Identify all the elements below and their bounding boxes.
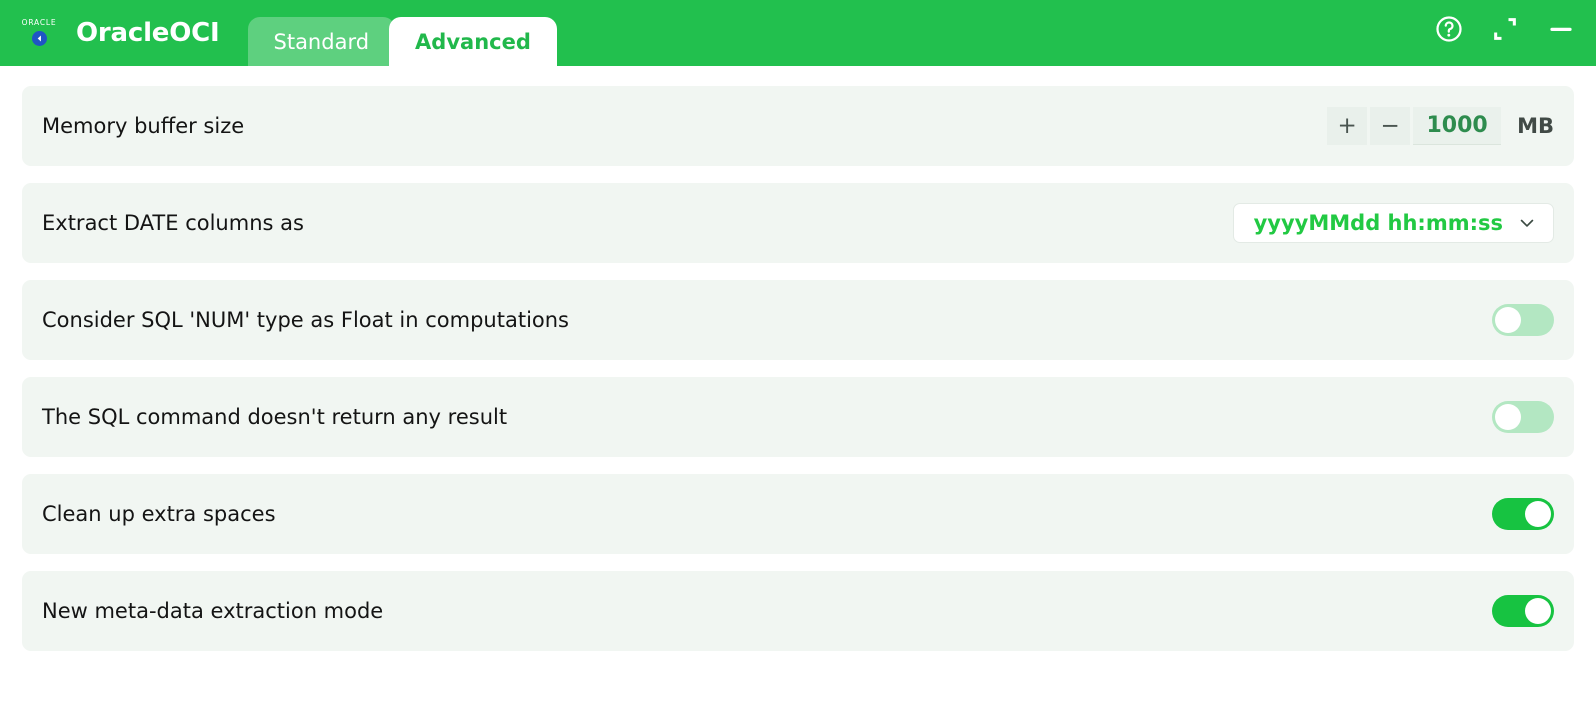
restore-icon	[1491, 15, 1519, 43]
oracle-arrow-badge-icon	[32, 31, 47, 46]
oracle-logo-icon: ORACLE	[16, 16, 62, 50]
tab-advanced-label: Advanced	[415, 30, 531, 54]
setting-row-consider-num-as-float: Consider SQL 'NUM' type as Float in comp…	[22, 280, 1574, 360]
tab-advanced[interactable]: Advanced	[389, 17, 557, 66]
toggle-knob	[1495, 404, 1521, 430]
app-title: OracleOCI	[76, 0, 220, 66]
toggle-knob	[1525, 598, 1551, 624]
toggle-clean-up-extra-spaces[interactable]	[1492, 498, 1554, 530]
setting-row-clean-up-extra-spaces: Clean up extra spaces	[22, 474, 1574, 554]
setting-control	[1492, 595, 1554, 627]
toggle-consider-num-as-float[interactable]	[1492, 304, 1554, 336]
settings-list: Memory buffer size + − 1000 MB Extract D…	[0, 66, 1596, 651]
toggle-new-metadata-extraction-mode[interactable]	[1492, 595, 1554, 627]
setting-row-new-metadata-extraction-mode: New meta-data extraction mode	[22, 571, 1574, 651]
memory-buffer-size-input[interactable]: 1000	[1413, 107, 1501, 145]
setting-control: yyyyMMdd hh:mm:ss	[1233, 203, 1554, 243]
help-icon	[1434, 14, 1464, 44]
title-bar: ORACLE OracleOCI Standard Advanced	[0, 0, 1596, 66]
setting-label: Clean up extra spaces	[42, 502, 1492, 526]
memory-buffer-size-unit: MB	[1517, 107, 1554, 145]
stepper-decrement-button[interactable]: −	[1370, 107, 1410, 145]
setting-row-memory-buffer-size: Memory buffer size + − 1000 MB	[22, 86, 1574, 166]
tab-bar: Standard Advanced	[248, 0, 557, 66]
setting-label: New meta-data extraction mode	[42, 599, 1492, 623]
setting-label: Memory buffer size	[42, 114, 1327, 138]
restore-button[interactable]	[1488, 12, 1522, 46]
minimize-icon	[1546, 14, 1576, 44]
toggle-knob	[1525, 501, 1551, 527]
setting-label: The SQL command doesn't return any resul…	[42, 405, 1492, 429]
setting-control	[1492, 498, 1554, 530]
setting-control	[1492, 304, 1554, 336]
tab-standard[interactable]: Standard	[248, 17, 396, 66]
window-controls	[1432, 0, 1578, 58]
tab-standard-label: Standard	[274, 30, 370, 54]
date-format-dropdown[interactable]: yyyyMMdd hh:mm:ss	[1233, 203, 1554, 243]
quantity-stepper: + − 1000	[1327, 107, 1501, 145]
toggle-sql-no-result[interactable]	[1492, 401, 1554, 433]
setting-row-sql-no-result: The SQL command doesn't return any resul…	[22, 377, 1574, 457]
chevron-down-icon	[1517, 213, 1537, 233]
help-button[interactable]	[1432, 12, 1466, 46]
setting-label: Consider SQL 'NUM' type as Float in comp…	[42, 308, 1492, 332]
brand-area: ORACLE OracleOCI	[0, 0, 220, 66]
minimize-button[interactable]	[1544, 12, 1578, 46]
setting-label: Extract DATE columns as	[42, 211, 1233, 235]
setting-control	[1492, 401, 1554, 433]
stepper-increment-button[interactable]: +	[1327, 107, 1367, 145]
toggle-knob	[1495, 307, 1521, 333]
setting-control: + − 1000 MB	[1327, 107, 1554, 145]
setting-row-extract-date-columns-as: Extract DATE columns as yyyyMMdd hh:mm:s…	[22, 183, 1574, 263]
date-format-selected-value: yyyyMMdd hh:mm:ss	[1254, 211, 1503, 235]
oracle-wordmark: ORACLE	[16, 18, 62, 27]
